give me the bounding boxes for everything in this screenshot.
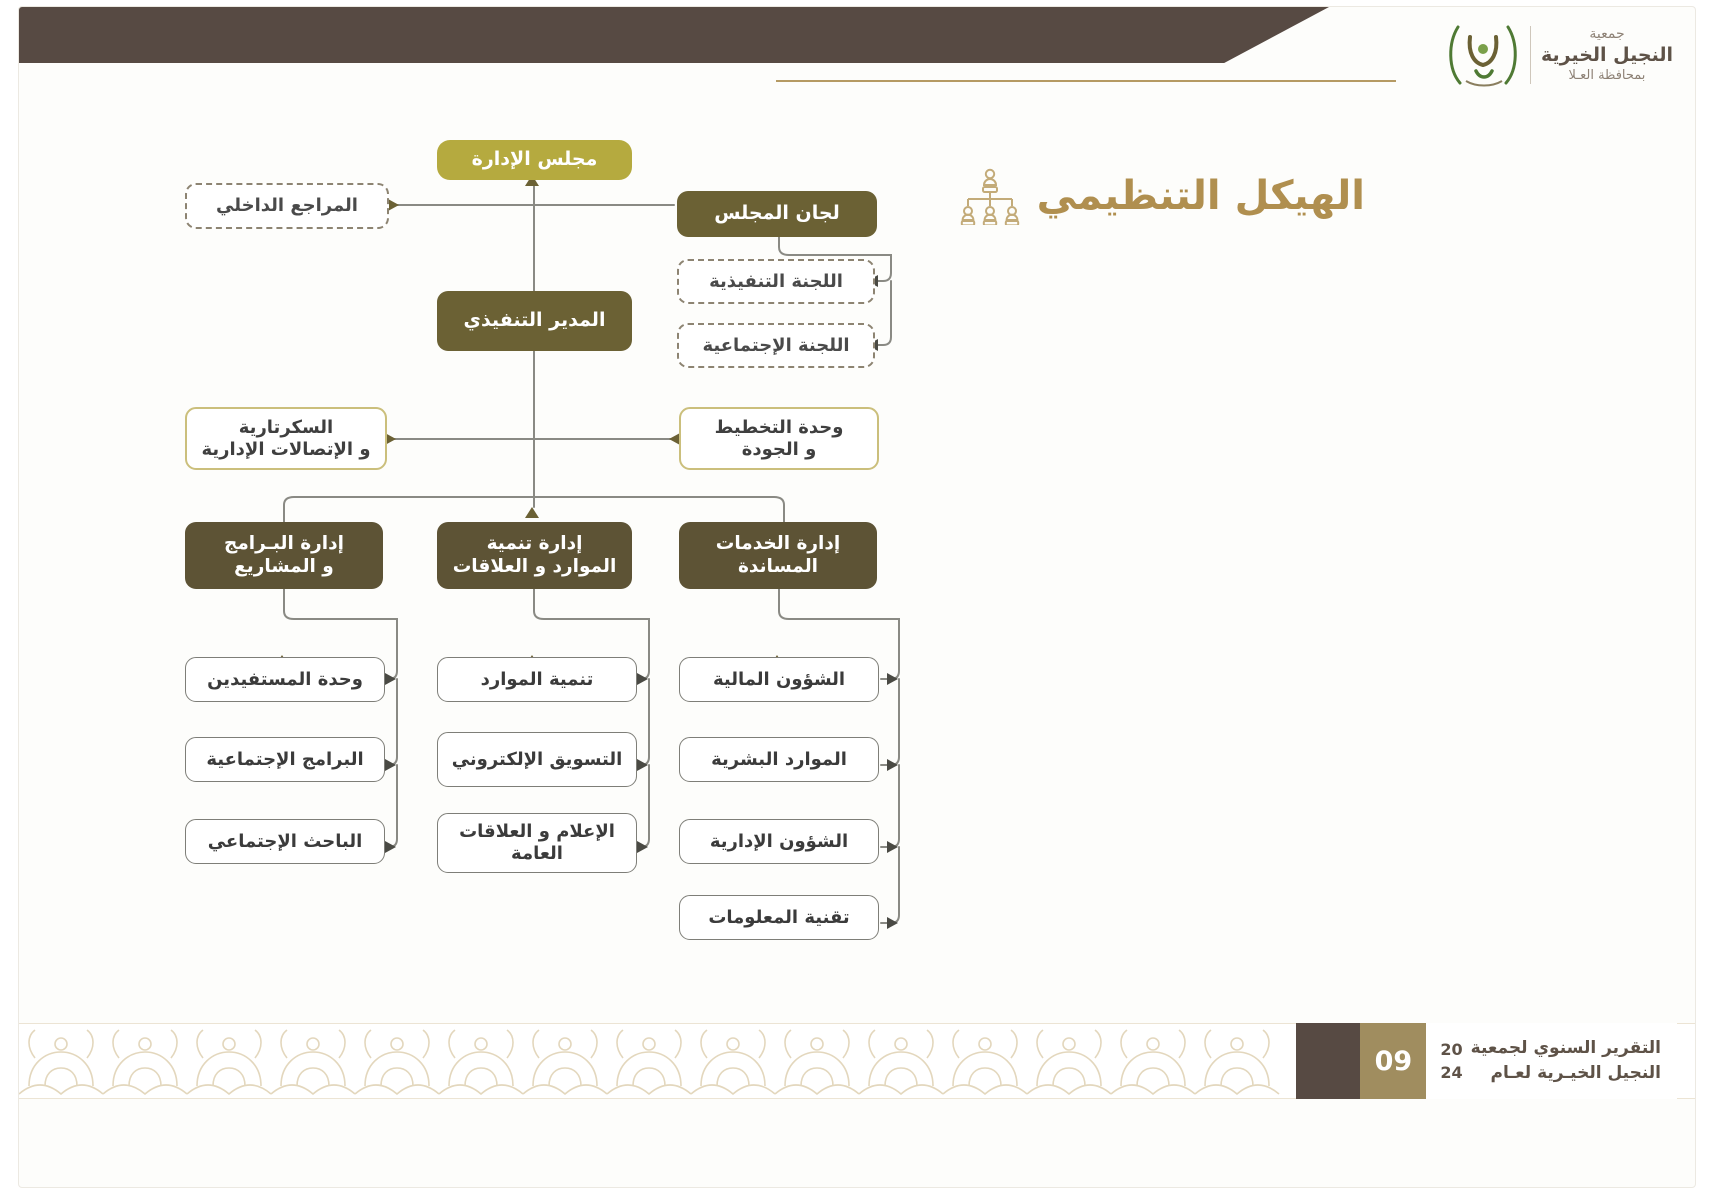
footer-dark-block: [1296, 1023, 1360, 1099]
footer-page-block: التقرير السنوي لجمعية النجيل الخيـرية لع…: [1296, 1023, 1677, 1099]
node-board-of-directors[interactable]: مجلس الإدارة: [437, 140, 632, 180]
node-resource-development[interactable]: تنمية الموارد: [437, 657, 637, 702]
node-e-marketing[interactable]: التسويق الإلكتروني: [437, 732, 637, 787]
node-beneficiaries-unit[interactable]: وحدة المستفيدين: [185, 657, 385, 702]
node-dept-support-services[interactable]: إدارة الخدمات المساندة: [679, 522, 877, 589]
footer-line-1: التقرير السنوي لجمعية: [1471, 1036, 1661, 1061]
node-executive-director[interactable]: المدير التنفيذي: [437, 291, 632, 351]
node-board-committees[interactable]: لجان المجلس: [677, 191, 877, 237]
footer-line-2: النجيل الخيـرية لعـام: [1471, 1061, 1661, 1086]
node-media-public-relations[interactable]: الإعلام و العلاقات العامة: [437, 813, 637, 873]
footer-year-bottom: 24: [1440, 1061, 1462, 1084]
node-internal-auditor[interactable]: المراجع الداخلي: [185, 183, 389, 229]
node-social-researcher[interactable]: الباحث الإجتماعي: [185, 819, 385, 864]
node-information-technology[interactable]: تقنية المعلومات: [679, 895, 879, 940]
org-chart: مجلس الإدارة المراجع الداخلي لجان المجلس…: [19, 7, 1696, 1017]
node-social-programs[interactable]: البرامج الإجتماعية: [185, 737, 385, 782]
node-dept-programs-projects[interactable]: إدارة البـرامج و المشاريع: [185, 522, 383, 589]
node-secretariat[interactable]: السكرتارية و الإتصالات الإدارية: [185, 407, 387, 470]
node-human-resources[interactable]: الموارد البشرية: [679, 737, 879, 782]
node-planning-quality-unit[interactable]: وحدة التخطيط و الجودة: [679, 407, 879, 470]
node-executive-committee[interactable]: اللجنة التنفيذية: [677, 259, 875, 304]
node-administrative-affairs[interactable]: الشؤون الإدارية: [679, 819, 879, 864]
footer-text: التقرير السنوي لجمعية النجيل الخيـرية لع…: [1426, 1023, 1677, 1099]
page-number-badge: 09: [1360, 1023, 1426, 1099]
footer-year: 20 24: [1440, 1038, 1462, 1084]
org-chart-connectors: [19, 7, 1696, 1017]
node-dept-resource-development[interactable]: إدارة تنمية الموارد و العلاقات: [437, 522, 632, 589]
footer-report-title: التقرير السنوي لجمعية النجيل الخيـرية لع…: [1471, 1036, 1661, 1085]
footer-year-top: 20: [1440, 1038, 1462, 1061]
node-finance[interactable]: الشؤون المالية: [679, 657, 879, 702]
report-page: جمعية النجيل الخيرية بمحافظة العـلا الهي…: [18, 6, 1696, 1188]
node-social-committee[interactable]: اللجنة الإجتماعية: [677, 323, 875, 368]
